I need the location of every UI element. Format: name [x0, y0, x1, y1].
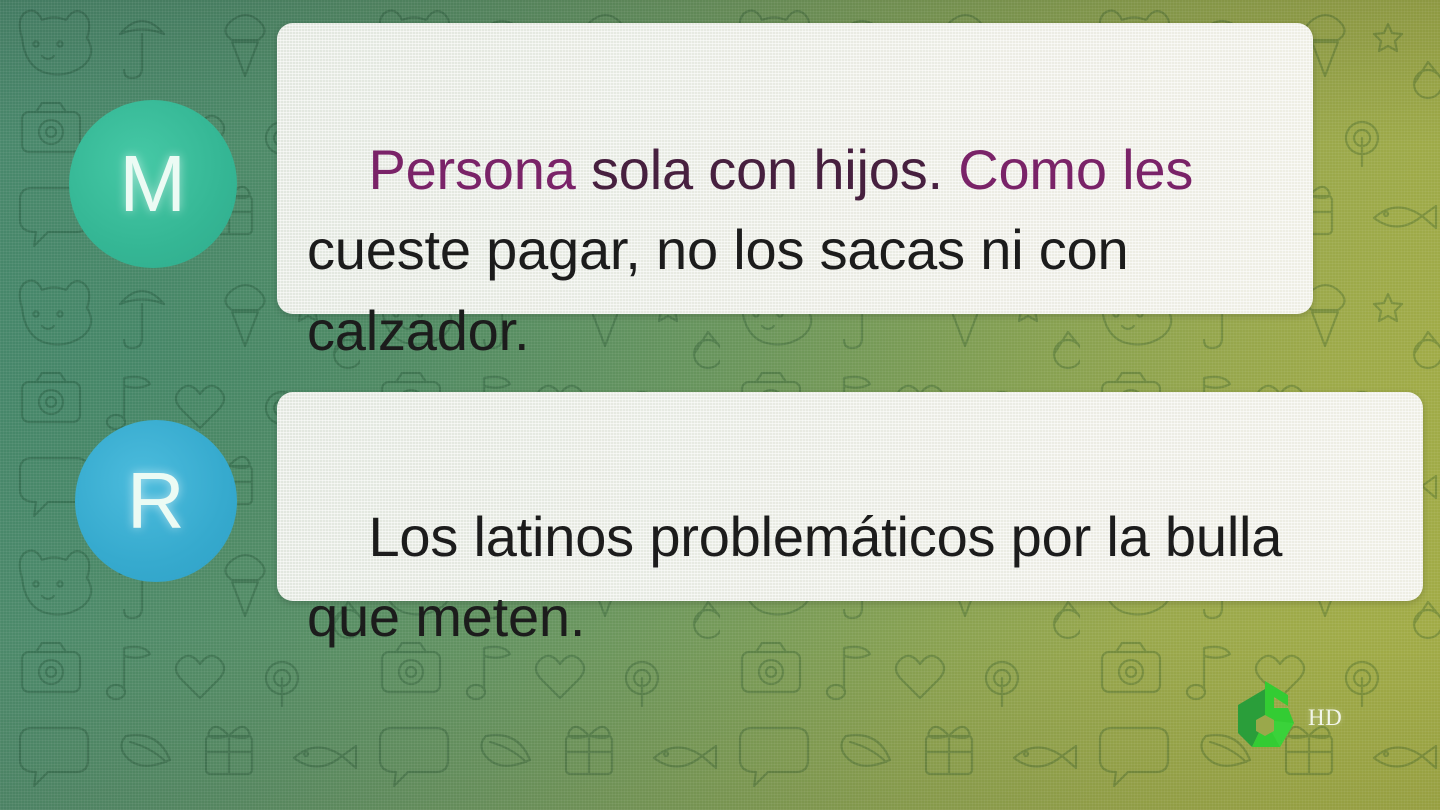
avatar-initial: M [119, 138, 186, 230]
channel-logo-block: HD [1222, 675, 1367, 760]
screen: M Persona sola con hijos. Como les cuest… [0, 0, 1440, 810]
message-1-segment-3: Como les [958, 138, 1193, 201]
avatar-initial: R [127, 455, 185, 547]
message-bubble-1[interactable]: Persona sola con hijos. Como les cueste … [277, 23, 1313, 314]
avatar-r[interactable]: R [75, 420, 237, 582]
lasexta-6-logo-icon [1222, 675, 1308, 760]
message-1-segment-2: sola con hijos. [576, 138, 959, 201]
hd-badge: HD [1308, 705, 1342, 731]
avatar-m[interactable]: M [69, 100, 237, 268]
message-1-segment-1: Persona [368, 138, 575, 201]
message-bubble-2[interactable]: Los latinos problemáticos por la bulla q… [277, 392, 1423, 601]
